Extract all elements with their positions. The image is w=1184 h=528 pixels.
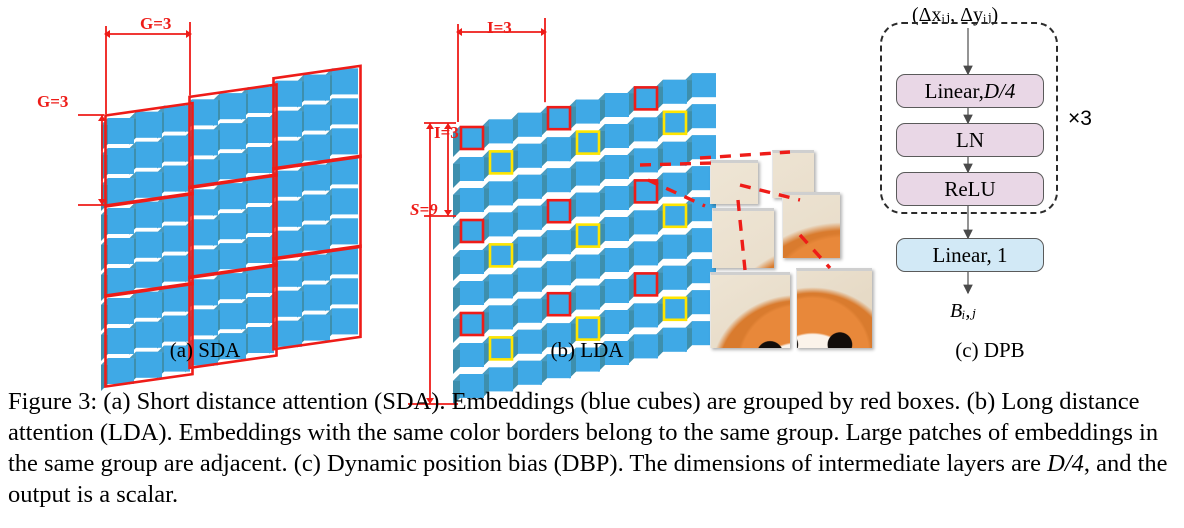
panel-dpb-caption: (c) DPB — [915, 338, 1065, 363]
image-patch — [782, 192, 840, 258]
panel-dpb: (Δxᵢⱼ, Δyᵢⱼ) Linear, D/4 LN ReLU ×3 — [840, 0, 1184, 360]
caption-body-1: (a) Short distance attention (SDA). Embe… — [8, 388, 1158, 477]
panel-lda-caption: (b) LDA — [512, 338, 662, 363]
sda-group-height-label: G=3 — [37, 92, 68, 112]
caption-math: D/4 — [1047, 450, 1084, 477]
panel-lda-grid — [420, 8, 750, 328]
caption-prefix: Figure 3: — [8, 388, 97, 415]
panel-sda-caption: (a) SDA — [130, 338, 280, 363]
dpb-block-linear-d4[interactable]: Linear, D/4 — [896, 74, 1044, 108]
panel-sda-grid — [70, 8, 390, 328]
lda-interval-height-label: I=3 — [434, 123, 459, 143]
dpb-block-linear-1-label: Linear, 1 — [933, 243, 1008, 268]
image-patch — [710, 160, 758, 204]
image-patch — [772, 150, 814, 198]
dpb-block-relu-label: ReLU — [944, 177, 995, 202]
sda-group-width-label: G=3 — [140, 14, 171, 34]
dpb-output-label: Bᵢ,ⱼ — [950, 298, 976, 323]
figure-3: G=3 G=3 (a) SDA I=3 I=3 S=9 (b) LDA (Δxᵢ… — [0, 0, 1184, 528]
dpb-block-linear-d4-label: Linear, — [925, 79, 984, 104]
figure-caption: Figure 3: (a) Short distance attention (… — [8, 386, 1176, 510]
lda-interval-width-label: I=3 — [487, 18, 512, 38]
dpb-block-relu[interactable]: ReLU — [896, 172, 1044, 206]
dpb-block-layernorm[interactable]: LN — [896, 123, 1044, 157]
dpb-block-layernorm-label: LN — [956, 128, 984, 153]
image-patch — [710, 272, 790, 348]
image-patch — [712, 208, 774, 268]
dpb-repeat-label: ×3 — [1068, 107, 1092, 131]
lda-grid-size-label: S=9 — [410, 200, 438, 220]
dpb-block-linear-1[interactable]: Linear, 1 — [896, 238, 1044, 272]
dpb-block-linear-d4-math: D/4 — [984, 79, 1016, 104]
